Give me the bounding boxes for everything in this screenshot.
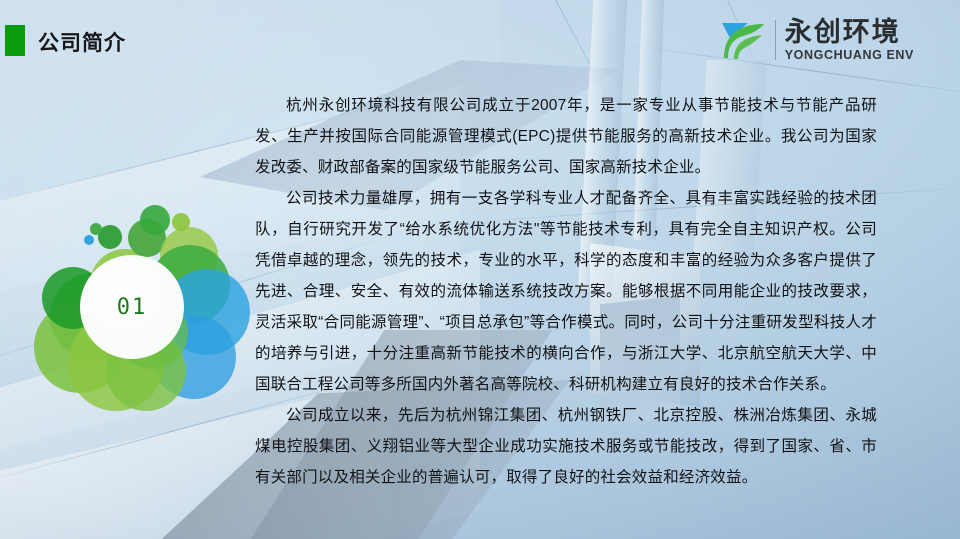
section-number-badge: 01 <box>80 255 184 359</box>
body-paragraph: 公司成立以来，先后为杭州锦江集团、杭州钢铁厂、北京控股、株洲冶炼集团、永城煤电控… <box>255 400 877 493</box>
body-text-block: 杭州永创环境科技有限公司成立于2007年，是一家专业从事节能技术与节能产品研发、… <box>255 90 877 493</box>
slide-canvas: 公司简介 永创环境 YONGCHUANG ENV 01 杭州永创环境科技有限公司… <box>0 0 960 539</box>
logo-divider <box>775 20 776 60</box>
logo-wordmark: 永创环境 YONGCHUANG ENV <box>785 19 914 62</box>
body-paragraph: 公司技术力量雄厚，拥有一支各学科专业人才配备齐全、具有丰富实践经验的技术团队，自… <box>255 183 877 400</box>
logo-company-name-cn: 永创环境 <box>785 19 914 46</box>
bubble-circle <box>172 213 190 231</box>
title-accent-marker <box>5 25 25 56</box>
page-title: 公司简介 <box>38 27 126 57</box>
logo-company-name-en: YONGCHUANG ENV <box>785 49 914 62</box>
bubble-circle <box>84 235 94 245</box>
company-logo: 永创环境 YONGCHUANG ENV <box>718 18 914 62</box>
bubble-circle <box>90 223 102 235</box>
body-paragraph: 杭州永创环境科技有限公司成立于2007年，是一家专业从事节能技术与节能产品研发、… <box>255 90 877 183</box>
leaf-swoosh-logo-icon <box>718 18 766 62</box>
bubble-circle <box>140 205 170 235</box>
decorative-bubble-cluster: 01 <box>32 205 242 415</box>
